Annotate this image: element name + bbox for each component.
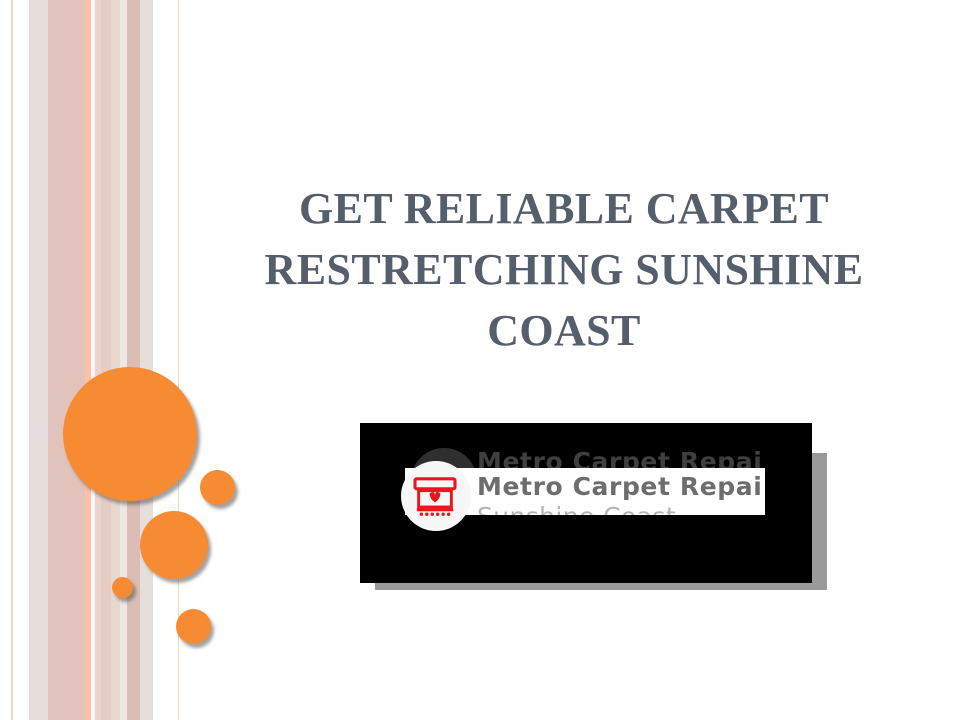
circle-medium — [140, 511, 208, 579]
stripe-sand — [111, 0, 120, 720]
stripe-mauve — [127, 0, 140, 720]
stripe-blush — [101, 0, 111, 720]
stripe-ivory — [120, 0, 127, 720]
circle-small-upper-right — [200, 470, 235, 505]
presentation-slide: Get Reliable Carpet Restretching Sunshin… — [0, 0, 960, 720]
logo-line1: Metro Carpet Repai — [477, 472, 765, 502]
page-title: Get Reliable Carpet Restretching Sunshin… — [214, 178, 914, 361]
circle-large — [63, 367, 197, 501]
stripe-white-gap — [13, 0, 29, 720]
circle-tiny — [112, 577, 133, 598]
logo-line2: Sunshine Coast — [477, 502, 765, 515]
stripe-hairline-right — [178, 0, 179, 720]
circle-small-bottom — [176, 609, 211, 644]
stripe-dusty-pink — [48, 0, 85, 720]
title-text: Get Reliable Carpet Restretching Sunshin… — [214, 178, 914, 361]
stripe-pale-gray — [29, 0, 48, 720]
stripe-oyster — [140, 0, 153, 720]
logo-words: Metro Carpet Repai Sunshine Coast — [477, 472, 765, 515]
logo-badge — [401, 461, 471, 531]
picture-frame[interactable]: Metro Carpet Repai Sunshine Coast Metro … — [360, 423, 812, 583]
shop-awning-heart-icon — [413, 477, 457, 517]
